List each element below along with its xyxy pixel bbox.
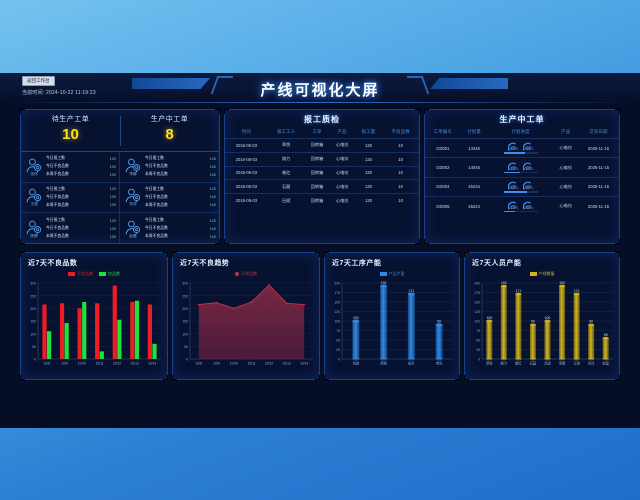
person-icon xyxy=(26,158,42,173)
svg-text:90: 90 xyxy=(589,320,593,324)
worker-card[interactable]: 陈静今日报工数120今日不良品数100本周不良品数100 xyxy=(21,213,120,244)
gauge-value: 120 xyxy=(508,147,519,151)
worker-metric-row: 本周不良品数100 xyxy=(46,171,116,179)
chart-legend[interactable]: 产线数量 xyxy=(465,271,619,277)
table-row[interactable]: 2016-05-03崔红回转箱心电仪12010 xyxy=(225,166,419,180)
worker-metric-row: 今日报工数120 xyxy=(145,155,216,163)
progress-bar xyxy=(504,152,538,154)
qc-cell: 心电仪 xyxy=(330,194,355,207)
worker-metric-label: 今日报工数 xyxy=(46,187,100,192)
corner-decor xyxy=(415,109,420,114)
worker-metric-row: 今日不良品数100 xyxy=(145,225,216,233)
legend-item[interactable]: 良品数 xyxy=(99,271,120,277)
svg-text:150: 150 xyxy=(30,320,36,324)
work-order-product: 心电仪 xyxy=(554,158,578,177)
corner-decor xyxy=(615,109,620,114)
worker-metric-row: 本周不良品数100 xyxy=(145,171,216,179)
worker-card[interactable]: 赵磊今日报工数120今日不良品数100本周不良品数100 xyxy=(120,213,219,244)
progress-gauge: 100 xyxy=(523,201,534,210)
svg-text:石磊: 石磊 xyxy=(530,360,537,365)
legend-item[interactable]: 不良品数 xyxy=(68,271,93,277)
qc-cell: 120 xyxy=(355,194,383,207)
worker-metric-value: 100 xyxy=(200,165,216,169)
worker-card[interactable]: 王强今日报工数120今日不良品数100本周不良品数100 xyxy=(21,183,120,214)
qc-cell: 10 xyxy=(382,139,419,153)
corner-decor xyxy=(163,252,168,257)
svg-text:章悦: 章悦 xyxy=(486,360,493,365)
worker-metric-value: 100 xyxy=(100,227,116,231)
worker-metric-row: 今日报工数120 xyxy=(46,185,116,193)
corner-decor xyxy=(20,375,25,380)
legend-label: 产线数量 xyxy=(539,271,555,277)
chart-title: 近7天工序产能 xyxy=(325,253,459,268)
qc-cell: 10 xyxy=(382,166,419,180)
worker-metric-label: 本周不良品数 xyxy=(46,234,100,239)
svg-text:0: 0 xyxy=(478,358,480,362)
svg-text:50: 50 xyxy=(476,339,480,343)
svg-text:10/12: 10/12 xyxy=(265,361,273,365)
svg-text:100: 100 xyxy=(486,316,492,320)
progress-bar xyxy=(504,172,538,174)
back-to-workbench-button[interactable]: 返回工作台 xyxy=(22,76,55,86)
work-order-plan-qty: 45234 xyxy=(461,177,488,196)
worker-card[interactable]: 李娜今日报工数120今日不良品数100本周不良品数100 xyxy=(120,152,219,183)
corner-decor xyxy=(464,252,469,257)
svg-text:10/9: 10/9 xyxy=(213,361,220,365)
gauge-value: 100 xyxy=(523,147,534,151)
worker-avatar: 张伟 xyxy=(24,158,44,176)
qc-cell: 回转箱 xyxy=(304,166,329,180)
corner-decor xyxy=(324,252,329,257)
worker-name: 赵磊 xyxy=(123,234,143,238)
svg-text:150: 150 xyxy=(334,301,340,305)
svg-text:125: 125 xyxy=(474,310,480,314)
qc-cell: 心电仪 xyxy=(330,166,355,180)
svg-text:0: 0 xyxy=(186,358,188,362)
qc-cell: 崔红 xyxy=(268,166,305,180)
gauge-value: 120 xyxy=(508,186,519,190)
legend-label: 良品数 xyxy=(108,271,120,277)
worker-metric-label: 本周不良品数 xyxy=(145,203,200,208)
chart-plot: 0255075100125150175200100192171901001921… xyxy=(465,279,619,371)
worker-card[interactable]: 刘洋今日报工数120今日不良品数100本周不良品数100 xyxy=(120,183,219,214)
worker-avatar: 赵磊 xyxy=(123,220,143,238)
svg-text:171: 171 xyxy=(409,289,415,293)
svg-text:100: 100 xyxy=(30,332,36,336)
work-order-column-header[interactable]: 计划量 xyxy=(461,127,488,139)
chart-panel-process-capacity: 近7天工序产能 产品产量 025507510012515017520010019… xyxy=(324,252,460,380)
svg-text:100: 100 xyxy=(182,332,188,336)
work-order-progress: 120 100 xyxy=(487,177,553,196)
worker-metric-row: 本周不良品数100 xyxy=(46,233,116,241)
qc-column-header[interactable]: 不良品数 xyxy=(382,127,419,139)
worker-metric-list: 今日报工数120今日不良品数100本周不良品数100 xyxy=(44,185,116,209)
worker-metric-value: 100 xyxy=(200,173,216,177)
qc-cell: 心电仪 xyxy=(330,180,355,194)
table-row[interactable]: 2016-05-03石磊回转箱心电仪12010 xyxy=(225,180,419,194)
svg-text:175: 175 xyxy=(474,291,480,295)
qc-cell: 心电仪 xyxy=(330,139,355,153)
qc-cell: 回转箱 xyxy=(304,194,329,207)
work-order-column-header[interactable]: 产品 xyxy=(554,127,578,139)
chart-panel-defect-trend: 近7天不良趋势 不良品数 05010015020025030010/810/91… xyxy=(172,252,320,380)
worker-metric-label: 今日不良品数 xyxy=(145,195,200,200)
svg-text:55: 55 xyxy=(604,333,608,337)
corner-decor xyxy=(163,375,168,380)
work-order-product: 心电仪 xyxy=(554,177,578,196)
svg-text:100: 100 xyxy=(545,316,551,320)
qc-cell: 10 xyxy=(382,180,419,194)
svg-text:150: 150 xyxy=(182,320,188,324)
table-row[interactable]: GD00445234 120 100 心电仪2025-11-15 xyxy=(425,177,619,196)
worker-name: 李娜 xyxy=(123,172,143,176)
kpi-card-pending[interactable]: 待生产工单 10 xyxy=(21,110,120,151)
svg-text:李娜: 李娜 xyxy=(559,360,566,365)
person-icon xyxy=(26,220,42,235)
worker-metric-label: 今日报工数 xyxy=(46,218,100,223)
corner-decor xyxy=(424,109,429,114)
svg-text:200: 200 xyxy=(30,307,36,311)
worker-metric-row: 本周不良品数100 xyxy=(145,201,216,209)
worker-metric-label: 今日报工数 xyxy=(145,156,200,161)
worker-metric-row: 本周不良品数100 xyxy=(145,233,216,241)
progress-gauge: 120 xyxy=(508,162,519,171)
work-order-table: 工单编号计划量计划进度产品交货日期 GD00114345 120 100 心电仪… xyxy=(425,127,619,216)
worker-metric-row: 今日不良品数100 xyxy=(46,193,116,201)
corner-decor xyxy=(455,252,460,257)
worker-metric-value: 100 xyxy=(200,203,216,207)
worker-name: 张伟 xyxy=(24,172,44,176)
worker-metric-value: 100 xyxy=(100,203,116,207)
worker-avatar: 王强 xyxy=(24,188,44,206)
work-order-panel-title: 生产中工单 xyxy=(425,110,619,125)
chart-title: 近7天不良趋势 xyxy=(173,253,319,268)
svg-text:赵磊: 赵磊 xyxy=(602,360,609,365)
corner-decor xyxy=(455,375,460,380)
qc-cell: 2016-05-03 xyxy=(225,180,268,194)
progress-gauge: 100 xyxy=(523,162,534,171)
svg-text:250: 250 xyxy=(182,294,188,298)
svg-text:10/10: 10/10 xyxy=(230,361,238,365)
svg-text:192: 192 xyxy=(381,281,387,285)
progress-bar xyxy=(504,211,538,213)
work-order-plan-qty: 45224 xyxy=(461,197,488,216)
worker-metric-value: 100 xyxy=(100,235,116,239)
svg-text:10/13: 10/13 xyxy=(131,361,139,365)
work-order-code: GD005 xyxy=(425,197,461,216)
worker-metric-label: 今日报工数 xyxy=(46,156,100,161)
work-order-column-header[interactable]: 工单编号 xyxy=(425,127,461,139)
corner-decor xyxy=(315,252,320,257)
table-row[interactable]: 2016-05-03吕斌回转箱心电仪12010 xyxy=(225,194,419,207)
svg-text:150: 150 xyxy=(474,301,480,305)
qc-cell: 回转箱 xyxy=(304,180,329,194)
dashboard-header: 产线可视化大屏 返回工作台 当前时间: 2024-10-22 11:19:23 xyxy=(0,73,640,103)
svg-text:10/14: 10/14 xyxy=(148,361,156,365)
chart-panel-staff-capacity: 近7天人员产能 产线数量 025507510012515017520010019… xyxy=(464,252,620,380)
table-row[interactable]: GD00545224 120 100 心电仪2025-11-15 xyxy=(425,197,619,216)
svg-text:老化: 老化 xyxy=(436,360,443,365)
worker-avatar: 陈静 xyxy=(24,220,44,238)
svg-text:10/8: 10/8 xyxy=(44,361,51,365)
qc-cell: 120 xyxy=(355,180,383,194)
corner-decor xyxy=(415,239,420,244)
worker-metric-row: 今日报工数120 xyxy=(46,217,116,225)
worker-name: 王强 xyxy=(24,202,44,206)
worker-metric-value: 100 xyxy=(200,235,216,239)
worker-metric-label: 本周不良品数 xyxy=(46,172,100,177)
svg-text:300: 300 xyxy=(182,282,188,286)
table-row[interactable]: GD00214045 120 100 心电仪2025-11-15 xyxy=(425,158,619,177)
corner-decor xyxy=(615,375,620,380)
svg-text:王强: 王强 xyxy=(573,360,580,365)
progress-gauge: 120 xyxy=(508,201,519,210)
qc-table-body: 2016-05-03章悦回转箱心电仪120102016-05-03姚力回转箱心电… xyxy=(225,139,419,207)
corner-decor xyxy=(615,252,620,257)
worker-card-grid: 张伟今日报工数120今日不良品数100本周不良品数100 李娜今日报工数120今… xyxy=(21,152,219,244)
corner-decor xyxy=(215,239,220,244)
chart-title: 近7天人员产能 xyxy=(465,253,619,268)
qc-column-header[interactable]: 工单 xyxy=(304,127,329,139)
work-order-date: 2025-11-15 xyxy=(578,197,619,216)
svg-text:10/11: 10/11 xyxy=(247,361,255,365)
svg-text:100: 100 xyxy=(353,316,359,320)
kpi-panel: 待生产工单 10 生产中工单 8 张伟今日报工数120今日不良品数100本周不良… xyxy=(20,109,220,244)
table-row[interactable]: GD00114345 120 100 心电仪2025-11-15 xyxy=(425,139,619,158)
svg-text:50: 50 xyxy=(336,339,340,343)
worker-metric-label: 今日不良品数 xyxy=(46,226,100,231)
work-order-header-row: 工单编号计划量计划进度产品交货日期 xyxy=(425,127,619,139)
svg-text:10/10: 10/10 xyxy=(78,361,86,365)
chart-panel-defect-count: 近7天不良品数 不良品数良品数 05010015020025030010/810… xyxy=(20,252,168,380)
work-order-column-header[interactable]: 计划进度 xyxy=(487,127,553,139)
svg-text:0: 0 xyxy=(338,358,340,362)
worker-metric-value: 120 xyxy=(200,219,216,223)
qc-cell: 120 xyxy=(355,166,383,180)
worker-metric-value: 120 xyxy=(200,187,216,191)
work-order-code: GD002 xyxy=(425,158,461,177)
svg-text:125: 125 xyxy=(334,310,340,314)
worker-metric-row: 今日不良品数100 xyxy=(145,193,216,201)
legend-swatch xyxy=(530,272,537,276)
current-time-label: 当前时间: xyxy=(22,90,44,96)
svg-text:200: 200 xyxy=(474,282,480,286)
legend-item[interactable]: 产线数量 xyxy=(530,271,555,277)
progress-gauge: 120 xyxy=(508,142,519,151)
kpi-value: 10 xyxy=(21,126,120,143)
chart-legend[interactable]: 产品产量 xyxy=(325,271,459,277)
kpi-label: 生产中工单 xyxy=(120,114,219,124)
progress-gauge: 120 xyxy=(508,181,519,190)
work-order-progress: 120 100 xyxy=(487,197,553,216)
worker-metric-value: 120 xyxy=(100,219,116,223)
worker-metric-row: 今日报工数120 xyxy=(145,185,216,193)
svg-text:贴片: 贴片 xyxy=(408,360,415,365)
worker-avatar: 刘洋 xyxy=(123,188,143,206)
svg-text:包装: 包装 xyxy=(353,360,360,365)
qc-cell: 2016-05-03 xyxy=(225,139,268,153)
svg-text:10/9: 10/9 xyxy=(61,361,68,365)
worker-metric-label: 今日报工数 xyxy=(145,218,200,223)
worker-metric-list: 今日报工数120今日不良品数100本周不良品数100 xyxy=(143,185,216,209)
work-order-panel: 生产中工单 工单编号计划量计划进度产品交货日期 GD00114345 120 1… xyxy=(424,109,620,244)
person-icon xyxy=(125,220,141,235)
svg-text:吕斌: 吕斌 xyxy=(544,360,551,365)
kpi-summary-row: 待生产工单 10 生产中工单 8 xyxy=(21,110,219,152)
svg-text:200: 200 xyxy=(182,307,188,311)
worker-metric-label: 本周不良品数 xyxy=(145,234,200,239)
svg-text:25: 25 xyxy=(336,348,340,352)
corner-decor xyxy=(315,375,320,380)
worker-metric-row: 今日不良品数100 xyxy=(46,225,116,233)
chart-legend[interactable]: 不良品数良品数 xyxy=(21,271,167,277)
worker-metric-row: 今日不良品数100 xyxy=(46,163,116,171)
qc-column-header[interactable]: 报工量 xyxy=(355,127,383,139)
qc-cell: 10 xyxy=(382,152,419,166)
svg-text:75: 75 xyxy=(476,329,480,333)
work-order-date: 2025-11-15 xyxy=(578,139,619,158)
corner-decor xyxy=(172,252,177,257)
corner-decor xyxy=(20,252,25,257)
gauge-value: 120 xyxy=(508,167,519,171)
current-time: 当前时间: 2024-10-22 11:19:23 xyxy=(22,89,96,96)
current-time-value: 2024-10-22 11:19:23 xyxy=(46,90,96,96)
worker-metric-label: 今日不良品数 xyxy=(46,195,100,200)
qc-report-panel: 报工质检 时间报工工人工单产品报工量不良品数 2016-05-03章悦回转箱心电… xyxy=(224,109,420,244)
svg-text:300: 300 xyxy=(30,282,36,286)
work-order-body: GD00114345 120 100 心电仪2025-11-15GD002140… xyxy=(425,139,619,216)
page-title: 产线可视化大屏 xyxy=(0,79,640,100)
svg-text:崔红: 崔红 xyxy=(515,360,522,365)
svg-text:175: 175 xyxy=(334,291,340,295)
svg-text:90: 90 xyxy=(437,320,441,324)
worker-metric-value: 100 xyxy=(100,173,116,177)
svg-text:171: 171 xyxy=(574,289,580,293)
worker-metric-row: 今日不良品数100 xyxy=(145,163,216,171)
worker-metric-value: 100 xyxy=(100,195,116,199)
gauge-value: 100 xyxy=(523,167,534,171)
chart-plot: 05010015020025030010/810/910/1010/1110/1… xyxy=(21,279,167,371)
qc-cell: 120 xyxy=(355,139,383,153)
svg-text:50: 50 xyxy=(184,345,188,349)
work-order-column-header[interactable]: 交货日期 xyxy=(578,127,619,139)
work-order-progress: 120 100 xyxy=(487,158,553,177)
legend-item[interactable]: 不良品数 xyxy=(235,271,257,277)
corner-decor xyxy=(324,375,329,380)
chart-plot: 05010015020025030010/810/910/1010/1110/1… xyxy=(173,279,319,371)
worker-metric-label: 今日不良品数 xyxy=(145,164,200,169)
worker-metric-row: 本周不良品数100 xyxy=(46,201,116,209)
corner-decor xyxy=(424,239,429,244)
qc-cell: 吕斌 xyxy=(268,194,305,207)
worker-metric-value: 120 xyxy=(100,187,116,191)
table-row[interactable]: 2016-05-03姚力回转箱心电仪12010 xyxy=(225,152,419,166)
corner-decor xyxy=(224,239,229,244)
corner-decor xyxy=(20,239,25,244)
legend-item[interactable]: 产品产量 xyxy=(380,271,405,277)
worker-name: 陈静 xyxy=(24,234,44,238)
qc-cell: 石磊 xyxy=(268,180,305,194)
gauge-value: 100 xyxy=(523,186,534,190)
svg-text:焊接: 焊接 xyxy=(380,360,387,365)
svg-text:0: 0 xyxy=(34,358,36,362)
worker-metric-list: 今日报工数120今日不良品数100本周不良品数100 xyxy=(44,155,116,179)
worker-metric-row: 今日报工数120 xyxy=(145,217,216,225)
worker-metric-label: 今日不良品数 xyxy=(145,226,200,231)
corner-decor xyxy=(172,375,177,380)
chart-legend[interactable]: 不良品数 xyxy=(173,271,319,277)
kpi-label: 待生产工单 xyxy=(21,114,120,124)
progress-gauge: 100 xyxy=(523,181,534,190)
svg-text:50: 50 xyxy=(32,345,36,349)
svg-text:192: 192 xyxy=(501,281,507,285)
legend-swatch xyxy=(68,272,75,276)
svg-text:刘洋: 刘洋 xyxy=(588,360,595,365)
qc-column-header[interactable]: 报工工人 xyxy=(268,127,305,139)
work-order-plan-qty: 14045 xyxy=(461,158,488,177)
svg-text:姚力: 姚力 xyxy=(501,360,508,365)
corner-decor xyxy=(615,239,620,244)
worker-card[interactable]: 张伟今日报工数120今日不良品数100本周不良品数100 xyxy=(21,152,120,183)
worker-metric-label: 本周不良品数 xyxy=(145,172,200,177)
table-row[interactable]: 2016-05-03章悦回转箱心电仪12010 xyxy=(225,139,419,153)
work-order-plan-qty: 14345 xyxy=(461,139,488,158)
legend-label: 产品产量 xyxy=(389,271,405,277)
worker-metric-value: 120 xyxy=(100,157,116,161)
qc-table: 时间报工工人工单产品报工量不良品数 2016-05-03章悦回转箱心电仪1201… xyxy=(225,127,419,207)
gauge-value: 120 xyxy=(508,206,519,210)
qc-column-header[interactable]: 时间 xyxy=(225,127,268,139)
worker-metric-label: 今日报工数 xyxy=(145,187,200,192)
svg-text:10/13: 10/13 xyxy=(283,361,291,365)
legend-dot xyxy=(235,272,239,276)
legend-swatch xyxy=(99,272,106,276)
progress-bar xyxy=(504,191,538,193)
kpi-card-in-production[interactable]: 生产中工单 8 xyxy=(120,110,219,151)
qc-cell: 2016-05-03 xyxy=(225,194,268,207)
corner-decor xyxy=(464,375,469,380)
qc-cell: 10 xyxy=(382,194,419,207)
qc-cell: 回转箱 xyxy=(304,152,329,166)
svg-text:100: 100 xyxy=(474,320,480,324)
person-icon xyxy=(125,158,141,173)
progress-gauge: 100 xyxy=(523,142,534,151)
qc-cell: 2016-05-03 xyxy=(225,152,268,166)
work-order-date: 2025-11-15 xyxy=(578,158,619,177)
legend-label: 不良品数 xyxy=(241,271,257,277)
legend-swatch xyxy=(380,272,387,276)
worker-metric-value: 120 xyxy=(200,157,216,161)
work-order-code: GD004 xyxy=(425,177,461,196)
qc-column-header[interactable]: 产品 xyxy=(330,127,355,139)
gauge-value: 100 xyxy=(523,206,534,210)
svg-text:192: 192 xyxy=(559,281,565,285)
svg-text:250: 250 xyxy=(30,294,36,298)
qc-table-header-row: 时间报工工人工单产品报工量不良品数 xyxy=(225,127,419,139)
legend-label: 不良品数 xyxy=(77,271,93,277)
worker-metric-list: 今日报工数120今日不良品数100本周不良品数100 xyxy=(143,217,216,241)
dashboard-screen: 产线可视化大屏 返回工作台 当前时间: 2024-10-22 11:19:23 … xyxy=(0,73,640,428)
worker-metric-list: 今日报工数120今日不良品数100本周不良品数100 xyxy=(143,155,216,179)
qc-cell: 2016-05-03 xyxy=(225,166,268,180)
worker-avatar: 李娜 xyxy=(123,158,143,176)
work-order-product: 心电仪 xyxy=(554,139,578,158)
qc-cell: 心电仪 xyxy=(330,152,355,166)
svg-text:75: 75 xyxy=(336,329,340,333)
kpi-value: 8 xyxy=(120,126,219,143)
worker-metric-label: 今日不良品数 xyxy=(46,164,100,169)
chart-title: 近7天不良品数 xyxy=(21,253,167,268)
